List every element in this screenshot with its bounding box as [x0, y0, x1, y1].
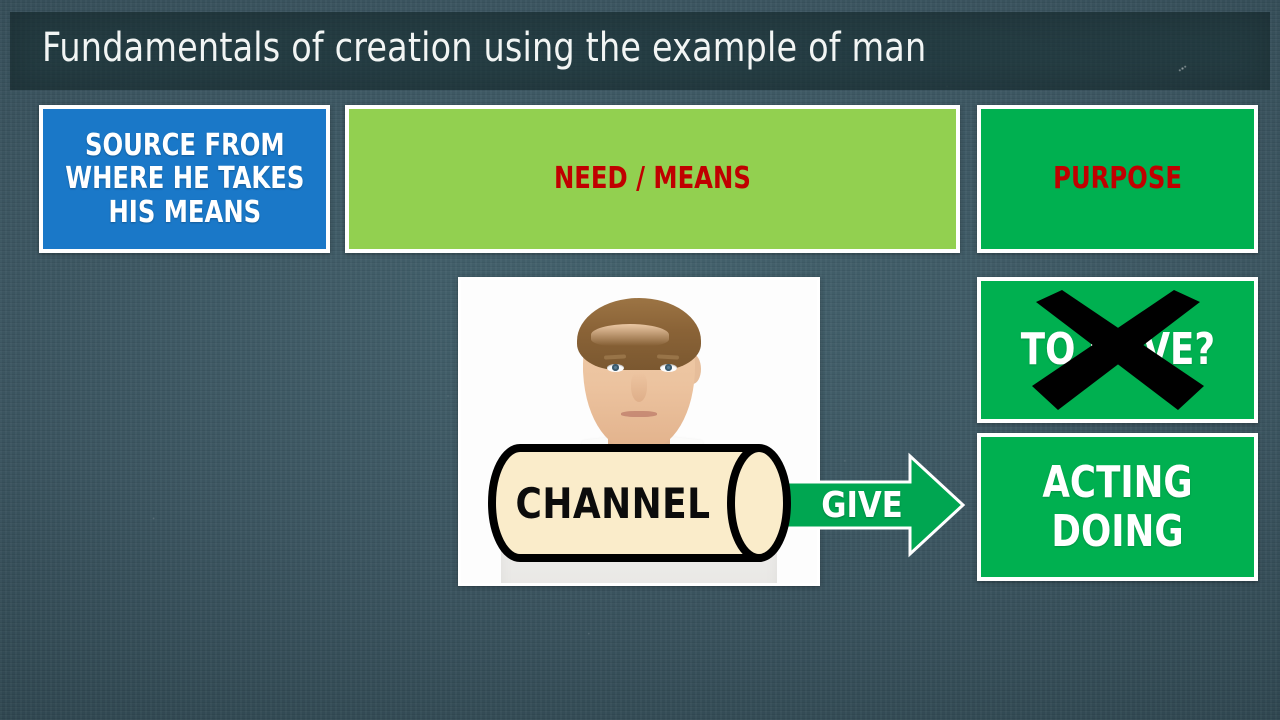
acting-line-1: ACTING: [1042, 458, 1192, 507]
source-line-1: SOURCE FROM: [65, 129, 304, 163]
need-means-box[interactable]: NEED / MEANS: [345, 105, 960, 253]
to-have-box[interactable]: TO HAVE?: [977, 277, 1258, 423]
photo-hair: [577, 298, 701, 370]
photo-eye-right: [660, 364, 677, 372]
channel-cylinder[interactable]: CHANNEL: [487, 443, 792, 563]
background-speck-icon: [1178, 64, 1187, 73]
photo-nose: [631, 372, 647, 402]
photo-mouth: [621, 411, 657, 417]
source-box[interactable]: SOURCE FROM WHERE HE TAKES HIS MEANS: [39, 105, 330, 253]
give-arrow-label: GIVE: [796, 452, 929, 558]
source-box-label: SOURCE FROM WHERE HE TAKES HIS MEANS: [65, 129, 304, 230]
source-line-2: WHERE HE TAKES: [65, 162, 304, 196]
acting-doing-box[interactable]: ACTING DOING: [977, 433, 1258, 581]
acting-line-2: DOING: [1042, 507, 1192, 556]
acting-doing-label: ACTING DOING: [1042, 458, 1192, 557]
need-means-label: NEED / MEANS: [554, 162, 751, 196]
purpose-box[interactable]: PURPOSE: [977, 105, 1258, 253]
page-title: Fundamentals of creation using the examp…: [42, 25, 926, 71]
photo-eye-left: [607, 364, 624, 372]
channel-label: CHANNEL: [493, 443, 732, 563]
to-have-label: TO HAVE?: [1020, 325, 1214, 374]
title-band: Fundamentals of creation using the examp…: [10, 12, 1270, 90]
source-line-3: HIS MEANS: [65, 196, 304, 230]
slide-canvas: Fundamentals of creation using the examp…: [0, 0, 1280, 720]
purpose-label: PURPOSE: [1053, 162, 1182, 196]
